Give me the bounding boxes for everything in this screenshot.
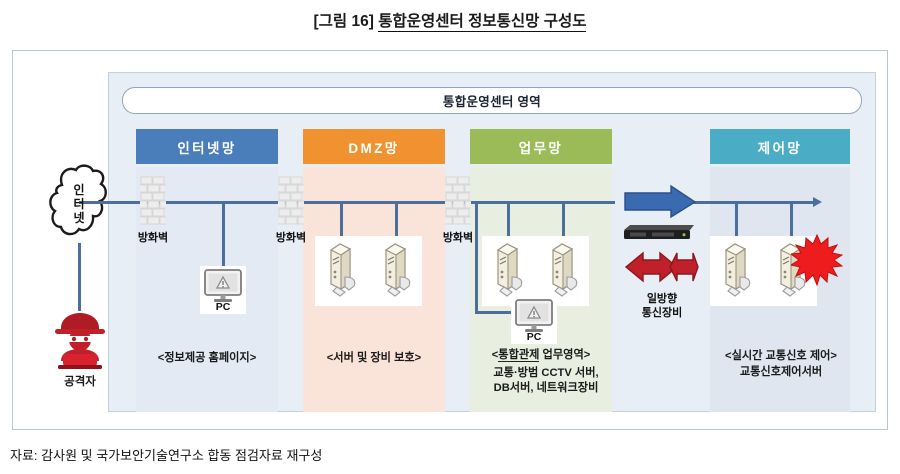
backbone-arrow-icon <box>813 197 822 207</box>
firewall-internet-label: 방화벽 <box>118 229 188 245</box>
source-note: 자료: 감사원 및 국가보안기술연구소 합동 점검자료 재구성 <box>10 445 322 464</box>
zone-internet-header: 인터넷망 <box>136 129 278 164</box>
zone-biz-caption-sub1: 교통·방범 CCTV 서버, <box>453 366 639 381</box>
zone-biz-caption-sub2: DB서버, 네트워크장비 <box>453 381 639 396</box>
biz-pc-drop-line <box>475 203 478 313</box>
red-blocked-bidirectional-arrow-icon <box>621 249 699 285</box>
cloud-label-line1: 인 <box>73 183 84 197</box>
zone-internet-header-label: 인터넷망 <box>177 137 236 157</box>
oneway-label-line1: 일방향 <box>619 292 705 306</box>
attacker-label: 공격자 <box>33 373 127 389</box>
integrated-center-label: 통합운영센터 영역 <box>443 91 541 110</box>
dmz-server-icon-2 <box>378 241 416 297</box>
blue-right-arrow-icon <box>623 185 697 219</box>
figure-name: 통합운영센터 정보통신망 구성도 <box>378 13 586 32</box>
zone-ctrl-caption-sub1: 교통신호제어서버 <box>740 366 822 378</box>
biz-server-icon-2 <box>545 241 583 297</box>
zone-biz-header-label: 업무망 <box>519 137 563 157</box>
biz-server-icon-1 <box>490 241 528 297</box>
integrated-center-title-box: 통합운영센터 영역 <box>122 87 862 114</box>
zone-ctrl-caption-text: <실시간 교통신호 제어> <box>725 350 837 362</box>
zone-dmz-caption-text: <서버 및 장비 보호> <box>327 352 421 364</box>
rack-appliance-icon <box>622 223 698 243</box>
oneway-label-line2: 통신장비 <box>619 306 705 320</box>
oneway-device-group: 일방향 통신장비 <box>619 191 705 336</box>
dmz-server-icon-1 <box>323 241 361 297</box>
internet-cloud-label: 인 터 넷 <box>46 163 112 245</box>
page-title: [그림 16] 통합운영센터 정보통신망 구성도 <box>0 9 900 31</box>
zone-dmz-header: DMZ망 <box>303 129 445 164</box>
oneway-device-label: 일방향 통신장비 <box>619 292 705 320</box>
zone-dmz-header-label: DMZ망 <box>348 137 399 157</box>
explosion-burst-icon <box>791 234 843 286</box>
zone-biz-caption-sub: 교통·방범 CCTV 서버, DB서버, 네트워크장비 <box>453 366 639 396</box>
network-backbone-left <box>113 201 615 204</box>
zone-ctrl-header: 제어망 <box>710 129 850 164</box>
cloud-label-line2: 터 <box>73 197 84 211</box>
zone-biz-header: 업무망 <box>470 129 612 164</box>
cloud-attacker-link <box>78 243 81 311</box>
internet-pc-drop-line <box>222 203 225 271</box>
firewall-internet <box>140 176 166 228</box>
internet-cloud: 인 터 넷 <box>46 163 112 245</box>
figure-number: [그림 16] <box>314 13 374 30</box>
diagram-canvas: 통합운영센터 영역 인 터 넷 <box>12 50 888 430</box>
attacker-icon <box>49 309 111 371</box>
firewall-dmz <box>278 176 304 228</box>
zone-ctrl-caption: <실시간 교통신호 제어> <box>693 349 869 364</box>
zone-internet-caption-text: <정보제공 홈페이지> <box>158 352 257 364</box>
zone-biz-caption-underlined: 통합관제 <box>498 349 539 362</box>
firewall-biz <box>445 176 471 228</box>
biz-pc-label: PC <box>511 331 557 343</box>
cloud-label-line3: 넷 <box>73 211 84 225</box>
zone-internet-caption: <정보제공 홈페이지> <box>119 351 295 366</box>
internet-pc-label: PC <box>200 301 246 313</box>
zone-biz-caption-text: <통합관제 업무영역> <box>492 349 591 362</box>
zone-ctrl-header-label: 제어망 <box>758 137 802 157</box>
zone-dmz-caption: <서버 및 장비 보호> <box>286 351 462 366</box>
ctrl-server-icon-1 <box>718 241 756 297</box>
zone-biz-caption: <통합관제 업무영역> <box>453 348 629 363</box>
zone-ctrl-caption-sub: 교통신호제어서버 <box>693 365 869 380</box>
